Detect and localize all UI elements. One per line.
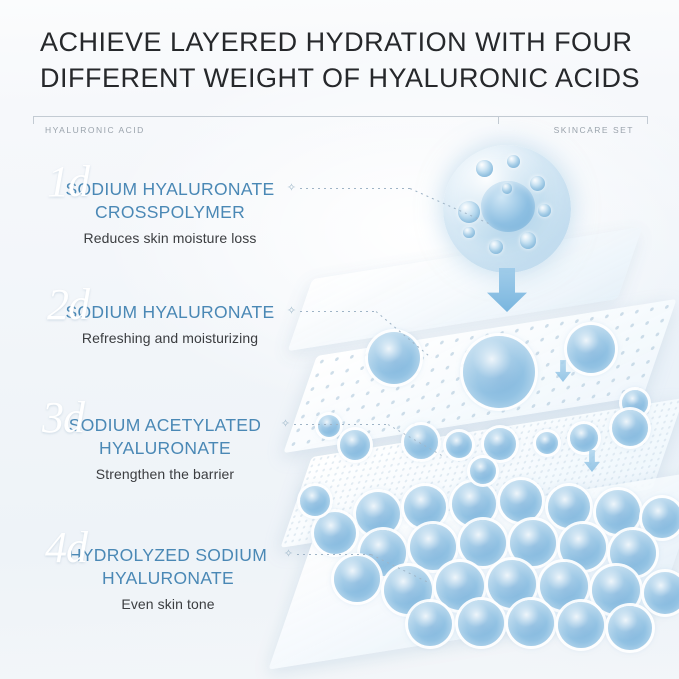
leader-segment [388,424,442,456]
packed-sphere [356,492,400,536]
sphere-bubble [530,176,545,191]
leader-segment [376,311,432,358]
rule-label-left: HYALURONIC ACID [45,125,145,135]
sparkle-icon: ✧ [286,306,297,317]
packed-sphere [436,562,484,610]
packed-sphere [488,560,536,608]
scatter-sphere [570,424,598,452]
leader-segment [294,424,390,425]
ingredient-item-4: 4d HYDROLYZED SODIUM HYALURONATE Even sk… [53,544,283,613]
packed-sphere [500,480,542,522]
layer-sheet-1 [288,227,643,351]
packed-sphere [558,602,604,648]
flow-arrow-small-icon [555,360,571,382]
sphere-bubble [463,227,475,239]
leader-segment [297,554,373,555]
leader-segment [410,188,489,224]
packed-sphere [644,572,679,614]
ingredient-title-2-line-1: SODIUM HYALURONATE [55,301,285,324]
leader-line-4: ✧ [283,554,513,555]
layer-sheet-4-base [268,470,679,669]
mid-sphere [368,332,420,384]
layer-sheet-2-perforated [283,299,676,453]
layer-sheet-3-textured [280,398,679,548]
packed-sphere [404,486,446,528]
ingredient-title-1-line-2: CROSSPOLYMER [55,201,285,224]
sparkle-icon: ✧ [283,549,294,560]
ingredient-title-1-line-1: SODIUM HYALURONATE [55,178,285,201]
packed-sphere [300,486,330,516]
packed-sphere [408,602,452,646]
sphere-bubble [507,155,520,168]
rule-tick-left [33,116,34,124]
packed-sphere [470,458,496,484]
sparkle-icon: ✧ [280,419,291,430]
section-rule-bar: HYALURONIC ACID SKINCARE SET [33,116,648,142]
rule-line [33,116,648,117]
ingredient-subtitle-2: Refreshing and moisturizing [55,329,285,347]
ingredient-item-1: 1d SODIUM HYALURONATE CROSSPOLYMER Reduc… [55,178,285,247]
packed-sphere [314,512,356,554]
mid-sphere [567,325,615,373]
page-title-line-2: DIFFERENT WEIGHT OF HYALURONIC ACIDS [40,60,640,96]
leader-segment [300,311,378,312]
packed-sphere [642,498,679,538]
mid-sphere [463,336,535,408]
rule-tick-middle [498,116,499,124]
scatter-sphere [318,415,340,437]
sphere-bubble [489,240,503,254]
packed-sphere [608,606,652,650]
sphere-bubble [520,232,537,249]
scatter-sphere [340,430,370,460]
packed-sphere [458,600,504,646]
leader-line-2: ✧ [286,311,516,312]
sphere-bubble [538,204,551,217]
scatter-sphere [484,428,516,460]
packed-sphere [460,520,506,566]
rule-label-right: SKINCARE SET [554,125,634,135]
scatter-sphere [446,432,472,458]
packed-sphere [508,600,554,646]
ingredient-item-2: 2d SODIUM HYALURONATE Refreshing and moi… [55,301,285,347]
ingredient-title-3-line-2: HYALURONATE [50,437,280,460]
packed-sphere [334,556,380,602]
packed-sphere [610,530,656,576]
ingredient-title-4-line-1: HYDROLYZED SODIUM [53,544,283,567]
packed-sphere [548,486,590,528]
sparkle-icon: ✧ [286,183,297,194]
flow-arrow-large-icon [487,268,527,312]
flow-arrow-small-icon [584,450,600,472]
ingredient-title-3-line-1: SODIUM ACETYLATED [50,414,280,437]
mid-sphere [622,390,648,416]
ingredient-item-3: 3d SODIUM ACETYLATED HYALURONATE Strengt… [50,414,280,483]
leader-segment [300,188,412,189]
ingredient-subtitle-4: Even skin tone [53,595,283,613]
leader-segment [371,554,429,583]
sphere-bubble [476,160,493,177]
packed-sphere [410,524,456,570]
packed-sphere [510,520,556,566]
page-title-line-1: ACHIEVE LAYERED HYDRATION WITH FOUR [40,24,640,60]
rule-tick-right [647,116,648,124]
packed-sphere [592,566,640,614]
packed-sphere [560,524,606,570]
page-title: ACHIEVE LAYERED HYDRATION WITH FOUR DIFF… [40,24,640,96]
packed-sphere [540,562,588,610]
leader-line-1: ✧ [286,188,516,189]
scatter-sphere [612,410,648,446]
scatter-sphere [536,432,558,454]
packed-sphere [452,482,496,526]
ingredient-title-4-line-2: HYALURONATE [53,567,283,590]
hyaluronate-sphere-large [443,145,571,273]
leader-line-3: ✧ [280,424,510,425]
infographic-poster: ACHIEVE LAYERED HYDRATION WITH FOUR DIFF… [0,0,679,679]
packed-sphere [596,490,640,534]
ingredient-subtitle-1: Reduces skin moisture loss [55,229,285,247]
ingredient-subtitle-3: Strengthen the barrier [50,465,280,483]
